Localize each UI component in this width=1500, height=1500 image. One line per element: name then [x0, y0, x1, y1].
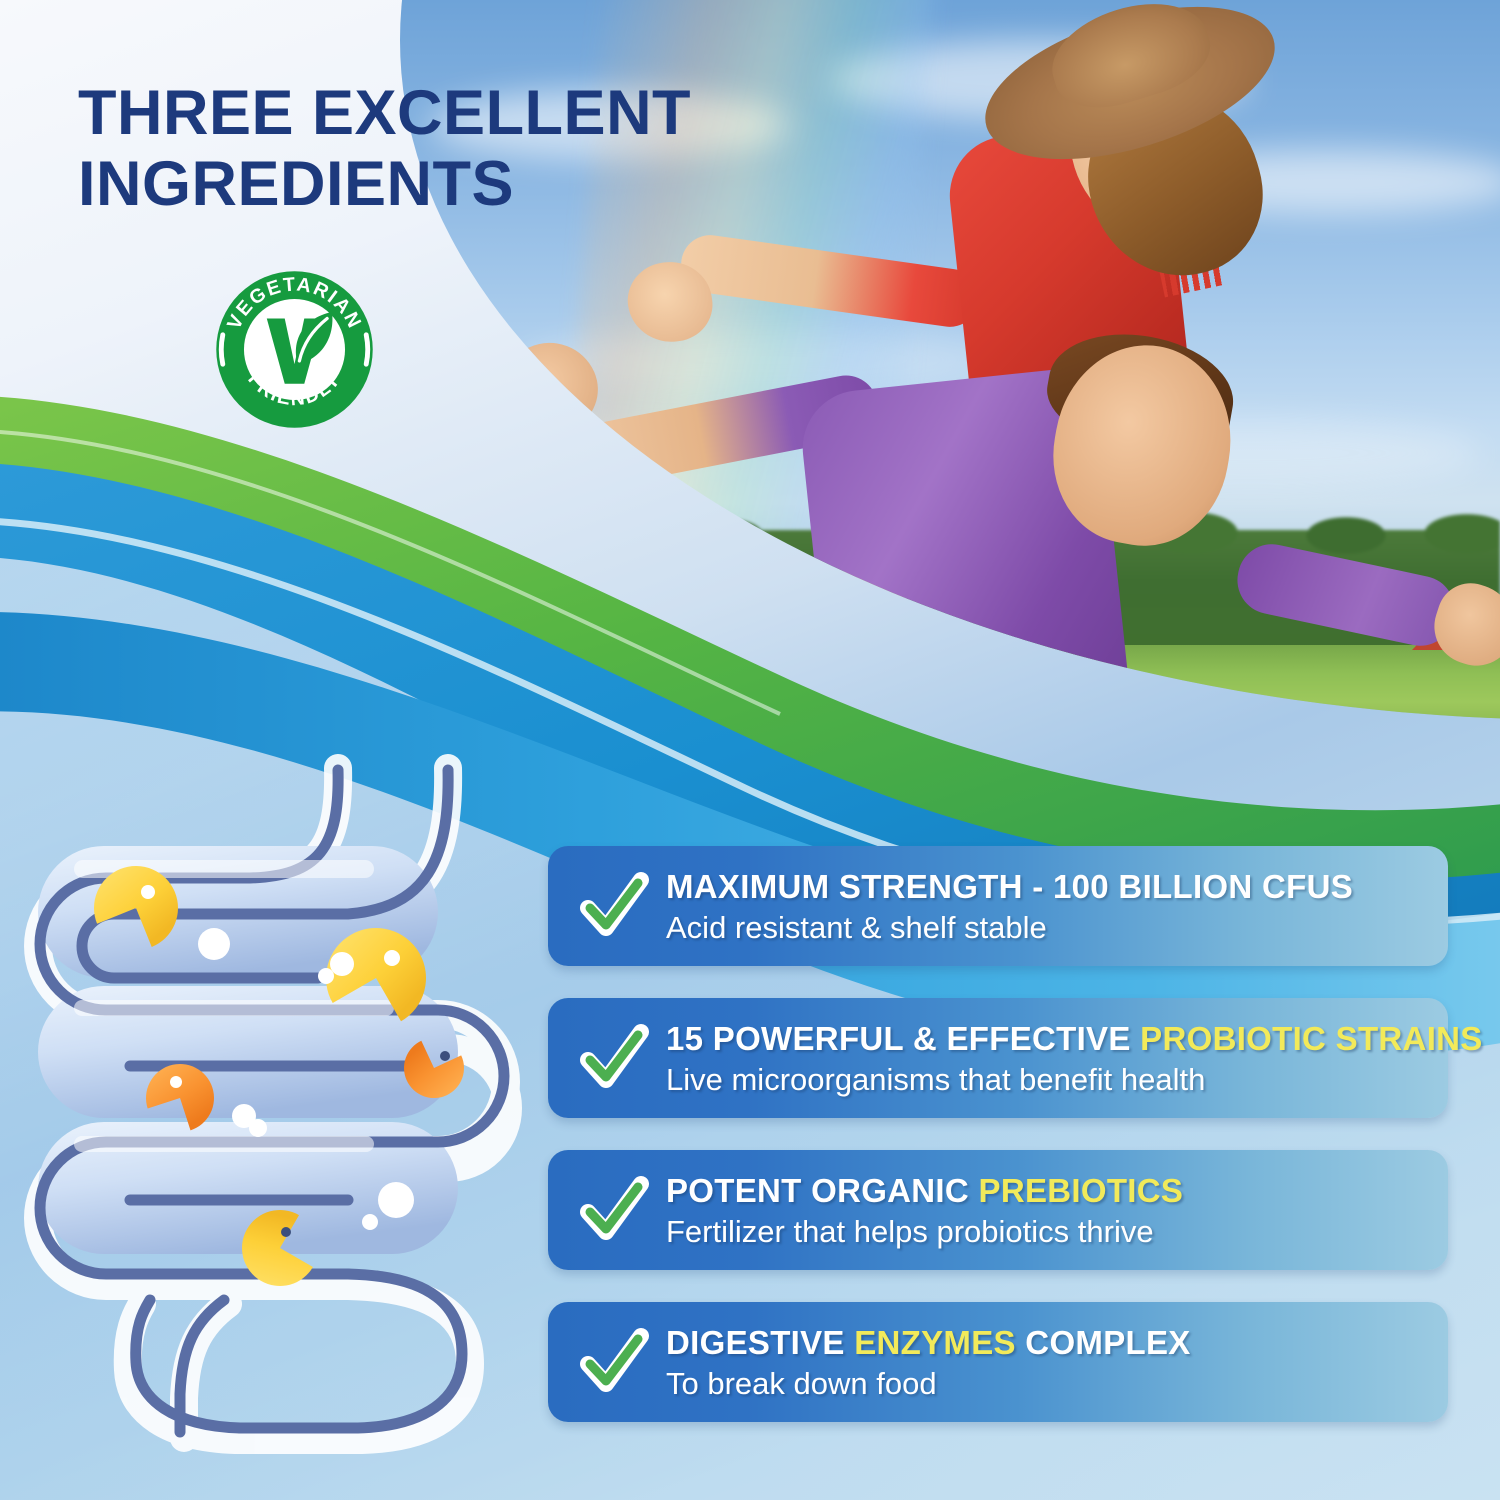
vegetarian-friendly-badge: VEGETARIAN FRIENDLY — [213, 268, 376, 431]
check-icon — [578, 1326, 650, 1398]
page-title: THREE EXCELLENT INGREDIENTS — [78, 78, 778, 219]
check-icon — [578, 1022, 650, 1094]
intestine-with-probiotics — [18, 748, 548, 1478]
feature-subtitle: To break down food — [666, 1366, 1191, 1402]
bracelet — [583, 417, 613, 479]
feature-card-text: 15 POWERFUL & EFFECTIVE PROBIOTIC STRAIN… — [666, 1018, 1483, 1098]
feature-title: 15 POWERFUL & EFFECTIVE PROBIOTIC STRAIN… — [666, 1020, 1483, 1058]
feature-card-list: MAXIMUM STRENGTH - 100 BILLION CFUS Acid… — [548, 846, 1448, 1422]
badge-left-tick — [221, 335, 223, 364]
infographic-canvas: THREE EXCELLENT INGREDIENTS VEGETARIAN F… — [0, 0, 1500, 1500]
feature-title: MAXIMUM STRENGTH - 100 BILLION CFUS — [666, 868, 1353, 906]
feature-card-text: DIGESTIVE ENZYMES COMPLEX To break down … — [666, 1322, 1191, 1402]
feature-card-text: MAXIMUM STRENGTH - 100 BILLION CFUS Acid… — [666, 866, 1353, 946]
check-icon — [578, 870, 650, 942]
feature-card[interactable]: 15 POWERFUL & EFFECTIVE PROBIOTIC STRAIN… — [548, 998, 1448, 1118]
headline-line-2: INGREDIENTS — [78, 149, 778, 220]
feature-subtitle: Acid resistant & shelf stable — [666, 910, 1353, 946]
feature-card[interactable]: MAXIMUM STRENGTH - 100 BILLION CFUS Acid… — [548, 846, 1448, 966]
feature-card-text: POTENT ORGANIC PREBIOTICS Fertilizer tha… — [666, 1170, 1183, 1250]
grass-field — [400, 645, 1500, 740]
check-icon — [578, 1174, 650, 1246]
feature-subtitle: Live microorganisms that benefit health — [666, 1062, 1483, 1098]
feature-title: DIGESTIVE ENZYMES COMPLEX — [666, 1324, 1191, 1362]
feature-title: POTENT ORGANIC PREBIOTICS — [666, 1172, 1183, 1210]
headline-line-1: THREE EXCELLENT — [78, 78, 778, 149]
feature-card[interactable]: POTENT ORGANIC PREBIOTICS Fertilizer tha… — [548, 1150, 1448, 1270]
feature-subtitle: Fertilizer that helps probiotics thrive — [666, 1214, 1183, 1250]
badge-right-tick — [366, 335, 368, 364]
intestine-outline — [38, 768, 508, 1440]
feature-card[interactable]: DIGESTIVE ENZYMES COMPLEX To break down … — [548, 1302, 1448, 1422]
